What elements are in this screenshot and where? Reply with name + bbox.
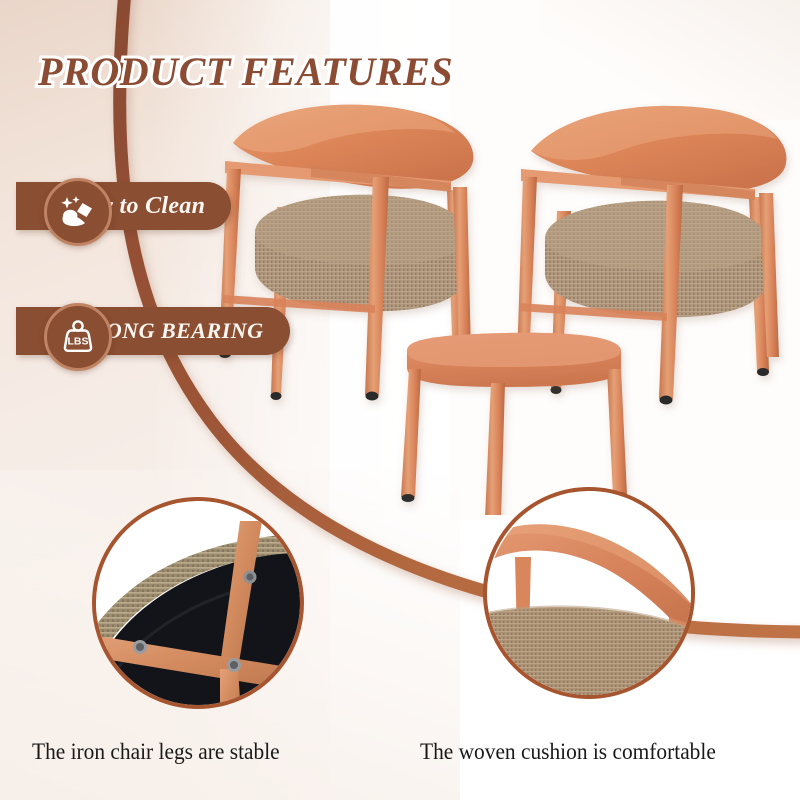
product-photo-stage	[215, 95, 800, 515]
sponge-sparkle-icon	[44, 178, 112, 246]
detail-circle-woven-cushion	[483, 487, 695, 699]
product-features-poster: PRODUCT FEATURES Easy to Clean STRONG BE…	[0, 0, 800, 800]
lbs-icon-text: LBS	[68, 336, 89, 348]
weight-lbs-icon: LBS	[44, 303, 112, 371]
woven-cushion-image	[483, 487, 695, 699]
detail-caption-left: The iron chair legs are stable	[32, 739, 280, 765]
chair-underside-image	[92, 497, 304, 709]
feature-badge-strong-bearing[interactable]: STRONG BEARING LBS	[44, 303, 290, 359]
page-title: PRODUCT FEATURES	[38, 48, 453, 95]
detail-circle-chair-legs	[92, 497, 304, 709]
detail-caption-right: The woven cushion is comfortable	[420, 739, 716, 765]
feature-badge-easy-to-clean[interactable]: Easy to Clean	[44, 178, 231, 234]
